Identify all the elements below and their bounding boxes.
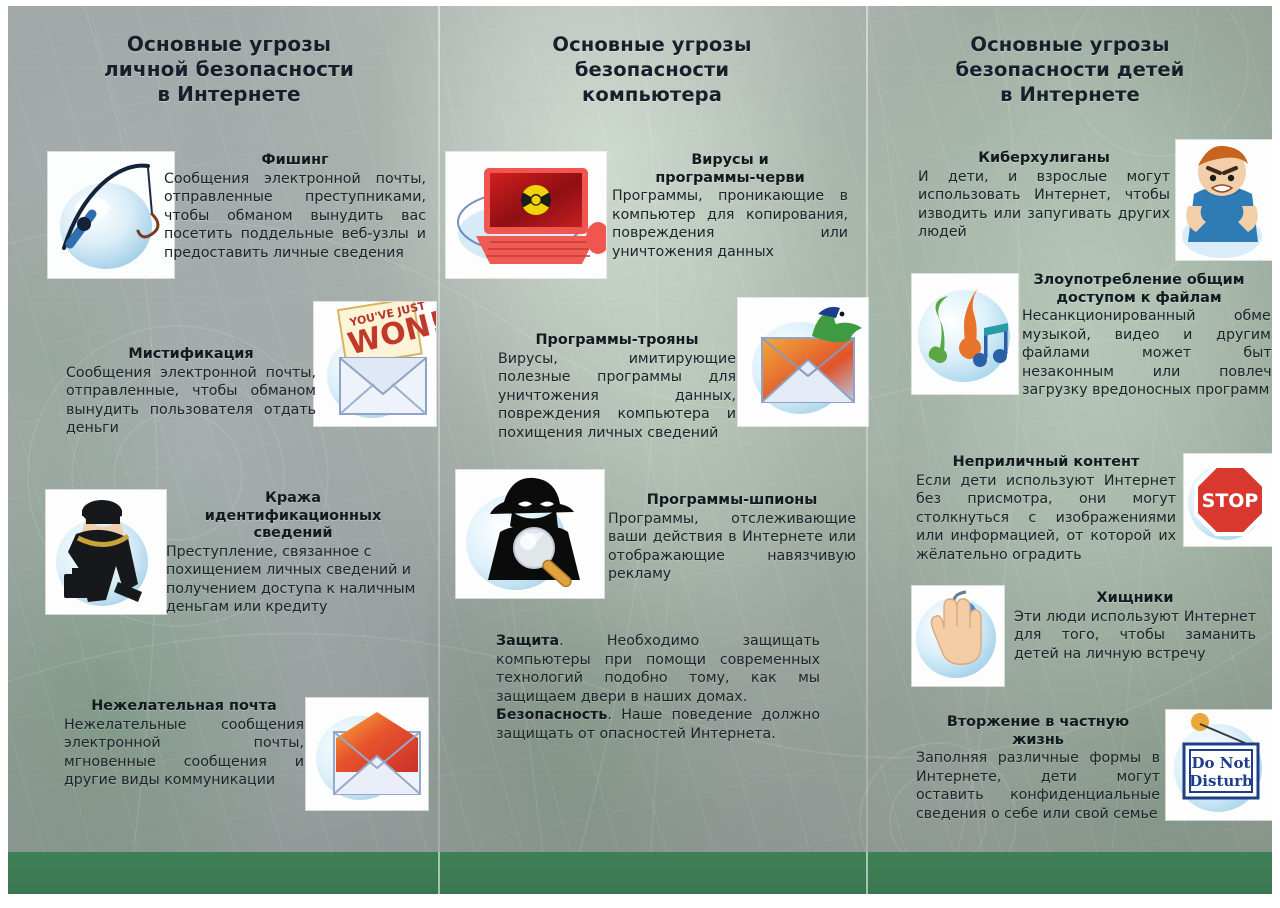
block-spyware: Программы-шпионы Программы, отслеживающи… bbox=[608, 492, 856, 584]
block-identity-theft: Кража идентификационных сведений Преступ… bbox=[166, 490, 420, 617]
trojan-horse-envelope-icon bbox=[738, 298, 868, 426]
column-1-title: Основные угрозы личной безопасности в Ин… bbox=[20, 6, 438, 107]
column-3-title: Основные угрозы безопасности детей в Инт… bbox=[868, 6, 1272, 107]
block-spyware-body: Программы, отслеживающие ваши действия в… bbox=[608, 510, 856, 584]
brochure-sheet: Основные угрозы личной безопасности в Ин… bbox=[8, 6, 1272, 894]
summary-protection-lead: Защита bbox=[496, 633, 559, 649]
block-computer-summary: Защита. Необходимо защищать компьютеры п… bbox=[496, 632, 820, 744]
block-trojans: Программы-трояны Вирусы, имитирующие пол… bbox=[498, 332, 736, 442]
svg-text:STOP: STOP bbox=[1202, 490, 1259, 512]
viruses-heading-line-2: программы-черви bbox=[612, 170, 848, 188]
block-hoax-body: Сообщения электронной почты, отправленны… bbox=[66, 364, 316, 438]
column-3-title-line-1: Основные угрозы bbox=[868, 32, 1272, 57]
footer-seam-left bbox=[438, 852, 440, 894]
block-cyberbullies: Киберхулиганы И дети, и взрослые могут и… bbox=[918, 150, 1170, 242]
column-2-title-line-3: компьютера bbox=[440, 82, 864, 107]
spy-detective-icon bbox=[456, 470, 604, 598]
identity-theft-heading-line-2: идентификационных bbox=[166, 508, 420, 526]
block-phishing: Фишинг Сообщения электронной почты, отпр… bbox=[164, 152, 426, 262]
summary-protection: Защита. Необходимо защищать компьютеры п… bbox=[496, 632, 820, 706]
block-viruses-worms-body: Программы, проникающие в компьютер для к… bbox=[612, 187, 848, 261]
block-indecent-content-heading: Неприличный контент bbox=[916, 454, 1176, 472]
file-sharing-heading-line-2: доступом к файлам bbox=[1022, 290, 1256, 308]
red-envelope-icon bbox=[306, 698, 428, 810]
summary-security: Безопасность. Наше поведение должно защи… bbox=[496, 706, 820, 743]
block-phishing-heading: Фишинг bbox=[164, 152, 426, 170]
summary-security-lead: Безопасность bbox=[496, 707, 607, 723]
block-predators-heading: Хищники bbox=[1014, 590, 1256, 608]
block-cyberbullies-body: И дети, и взрослые могут использовать Ин… bbox=[918, 168, 1170, 242]
column-1-title-line-2: личной безопасности bbox=[20, 57, 438, 82]
block-hoax: Мистификация Сообщения электронной почты… bbox=[66, 346, 316, 438]
column-1-title-line-1: Основные угрозы bbox=[20, 32, 438, 57]
block-privacy-invasion-body: Заполняя различные формы в Интернете, де… bbox=[916, 749, 1160, 823]
block-hoax-heading: Мистификация bbox=[66, 346, 316, 364]
angry-boy-icon bbox=[1176, 140, 1272, 260]
burglar-icon bbox=[46, 490, 166, 614]
block-cyberbullies-heading: Киберхулиганы bbox=[918, 150, 1170, 168]
block-viruses-worms-heading: Вирусы и программы-черви bbox=[612, 152, 848, 187]
identity-theft-heading-line-3: сведений bbox=[166, 525, 420, 543]
stop-sign-icon: STOP bbox=[1184, 454, 1272, 546]
column-2-title: Основные угрозы безопасности компьютера bbox=[440, 6, 864, 107]
music-notes-icon bbox=[912, 274, 1018, 394]
block-privacy-invasion-heading: Вторжение в частную жизнь bbox=[916, 714, 1160, 749]
you-just-won-envelope-icon: YOU'VE JUST WON! bbox=[314, 302, 436, 426]
block-phishing-body: Сообщения электронной почты, отправленны… bbox=[164, 170, 426, 263]
infected-computer-icon bbox=[446, 152, 606, 278]
block-indecent-content-body: Если дети используют Интернет без присмо… bbox=[916, 472, 1176, 565]
svg-text:Disturb: Disturb bbox=[1189, 772, 1252, 790]
block-identity-theft-heading: Кража идентификационных сведений bbox=[166, 490, 420, 543]
privacy-heading-line-1: Вторжение в частную bbox=[916, 714, 1160, 732]
block-privacy-invasion: Вторжение в частную жизнь Заполняя разли… bbox=[916, 714, 1160, 823]
column-3-title-line-3: в Интернете bbox=[868, 82, 1272, 107]
footer-seam-right bbox=[866, 852, 868, 894]
block-file-sharing-heading: Злоупотребление общим доступом к файлам bbox=[1022, 272, 1256, 307]
column-2-title-line-2: безопасности bbox=[440, 57, 864, 82]
block-file-sharing-abuse: Злоупотребление общим доступом к файлам … bbox=[1022, 272, 1256, 400]
block-identity-theft-body: Преступление, связанное с похищением лич… bbox=[166, 543, 420, 617]
privacy-heading-line-2: жизнь bbox=[916, 732, 1160, 750]
identity-theft-heading-line-1: Кража bbox=[166, 490, 420, 508]
block-spam: Нежелательная почта Нежелательные сообще… bbox=[64, 698, 304, 790]
block-trojans-body: Вирусы, имитирующие полезные программы д… bbox=[498, 350, 736, 443]
block-predators: Хищники Эти люди используют Интернет для… bbox=[1014, 590, 1256, 663]
do-not-disturb-sign-icon: Do Not Disturb bbox=[1166, 710, 1272, 820]
block-predators-body: Эти люди используют Интернет для того, ч… bbox=[1014, 608, 1256, 664]
block-trojans-heading: Программы-трояны bbox=[498, 332, 736, 350]
file-sharing-heading-line-1: Злоупотребление общим bbox=[1022, 272, 1256, 290]
column-2-title-line-1: Основные угрозы bbox=[440, 32, 864, 57]
block-spam-heading: Нежелательная почта bbox=[64, 698, 304, 716]
block-spyware-heading: Программы-шпионы bbox=[608, 492, 856, 510]
block-spam-body: Нежелательные сообщения электронной почт… bbox=[64, 716, 304, 790]
block-indecent-content: Неприличный контент Если дети используют… bbox=[916, 454, 1176, 564]
hand-on-mouse-icon bbox=[912, 586, 1004, 686]
fishing-rod-icon bbox=[48, 152, 174, 278]
block-file-sharing-body: Несанкционированный обмен музыкой, видео… bbox=[1022, 307, 1272, 400]
footer-green-band bbox=[8, 852, 1272, 894]
column-3-title-line-2: безопасности детей bbox=[868, 57, 1272, 82]
column-1-title-line-3: в Интернете bbox=[20, 82, 438, 107]
viruses-heading-line-1: Вирусы и bbox=[612, 152, 848, 170]
svg-text:Do Not: Do Not bbox=[1192, 754, 1251, 772]
block-viruses-worms: Вирусы и программы-черви Программы, прон… bbox=[612, 152, 848, 261]
